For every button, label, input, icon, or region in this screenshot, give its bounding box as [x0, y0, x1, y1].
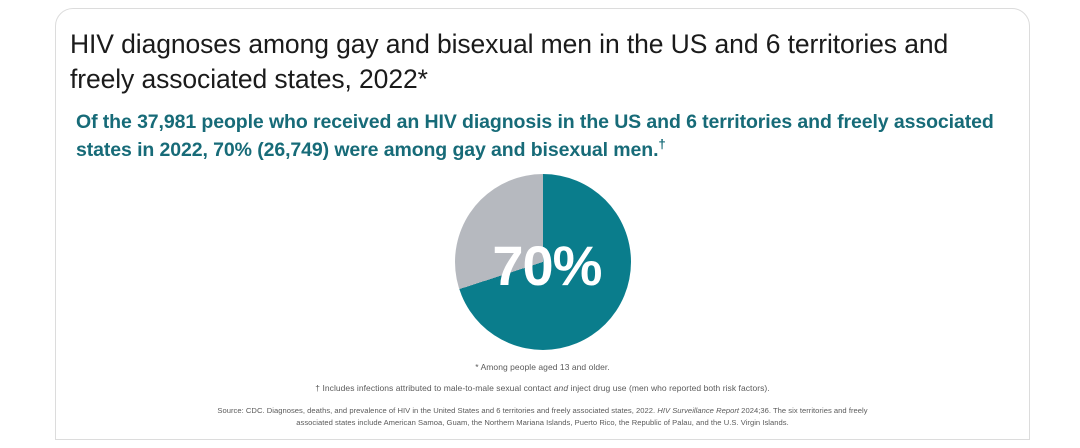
footnote-dagger-emphasis: and	[554, 383, 568, 393]
subtitle-highlight: 37,981 people who received an HIV diagno…	[137, 111, 552, 133]
footnote-dagger-b: inject drug use (men who reported both r…	[568, 383, 770, 393]
footnote-dagger: † Includes infections attributed to male…	[56, 382, 1029, 395]
source-citation: Source: CDC. Diagnoses, deaths, and prev…	[56, 405, 1029, 429]
source-line-1: Source: CDC. Diagnoses, deaths, and prev…	[56, 405, 1029, 417]
footnote-asterisk: * Among people aged 13 and older.	[56, 361, 1029, 374]
infographic-card: HIV diagnoses among gay and bisexual men…	[55, 8, 1030, 440]
card-content: HIV diagnoses among gay and bisexual men…	[56, 9, 1029, 439]
source-report-title: HIV Surveillance Report	[657, 406, 739, 415]
pie-chart: 70%	[56, 174, 1029, 359]
subtitle-callout: Of the 37,981 people who received an HIV…	[76, 109, 1011, 164]
source-text-a: Source: CDC. Diagnoses, deaths, and prev…	[217, 406, 657, 415]
footnote-dagger-a: † Includes infections attributed to male…	[315, 383, 554, 393]
pie-center-label: 70%	[492, 238, 601, 294]
subtitle-lead: Of the	[76, 111, 137, 133]
dagger-footnote-marker: †	[658, 136, 665, 151]
source-text-b: 2024;36. The six territories and freely	[739, 406, 868, 415]
footnotes: * Among people aged 13 and older. † Incl…	[56, 361, 1029, 395]
source-line-2: associated states include American Samoa…	[56, 417, 1029, 429]
page-title: HIV diagnoses among gay and bisexual men…	[70, 27, 950, 97]
